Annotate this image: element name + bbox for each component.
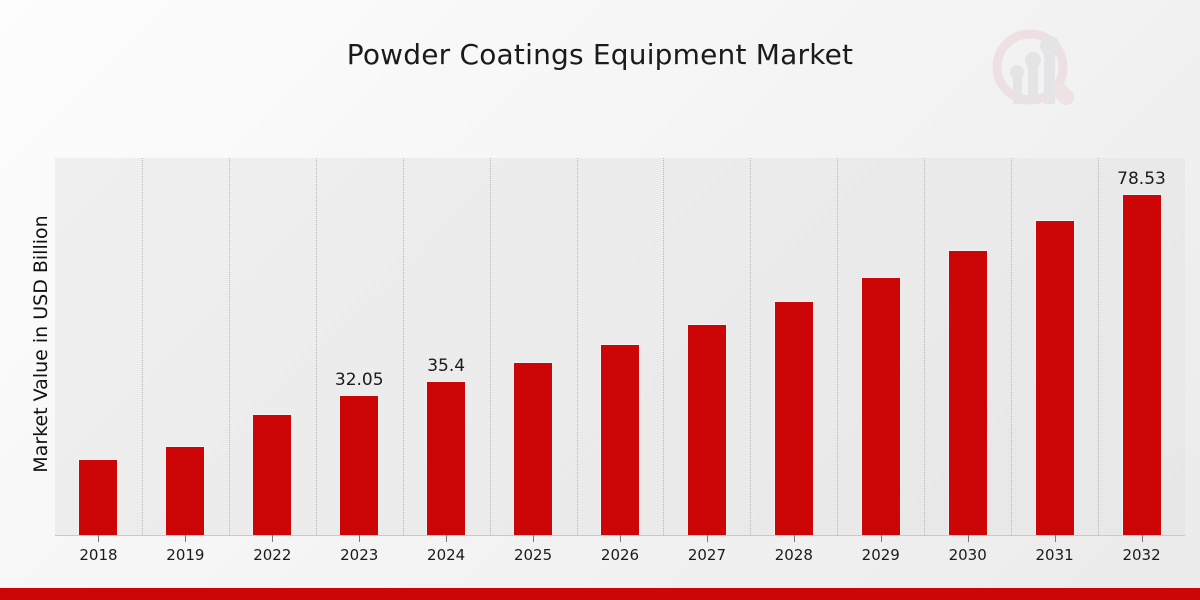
bar-2029[interactable] <box>861 277 901 535</box>
bar-group[interactable] <box>1011 158 1098 535</box>
bar-2024[interactable] <box>426 381 466 535</box>
bar-group[interactable] <box>924 158 1011 535</box>
bar-large-icon <box>1044 50 1055 104</box>
bar-2019[interactable] <box>165 446 205 535</box>
x-tick-mark <box>98 535 99 542</box>
x-tick-mark <box>533 535 534 542</box>
x-tick-label-2032: 2032 <box>1122 546 1160 564</box>
bar-2023[interactable] <box>339 395 379 535</box>
x-tick-label-2029: 2029 <box>862 546 900 564</box>
x-tick-mark <box>185 535 186 542</box>
bar-2028[interactable] <box>774 301 814 535</box>
x-tick-mark <box>881 535 882 542</box>
bar-2032[interactable] <box>1122 194 1162 535</box>
bar-series: 32.0535.478.53 <box>55 158 1185 535</box>
x-tick-mark <box>446 535 447 542</box>
bar-group[interactable]: 78.53 <box>1098 158 1185 535</box>
x-tick-label-2030: 2030 <box>949 546 987 564</box>
x-tick-label-2025: 2025 <box>514 546 552 564</box>
x-tick-mark <box>794 535 795 542</box>
x-tick-mark <box>1055 535 1056 542</box>
bar-group[interactable] <box>663 158 750 535</box>
dot-medium-icon <box>1025 52 1041 68</box>
x-tick-mark <box>1142 535 1143 542</box>
bar-small-icon <box>1013 76 1022 104</box>
x-tick-mark <box>620 535 621 542</box>
bar-medium-icon <box>1028 64 1038 104</box>
bar-2030[interactable] <box>948 250 988 535</box>
bar-value-label-2023: 32.05 <box>335 370 384 390</box>
x-tick-label-2028: 2028 <box>775 546 813 564</box>
x-tick-mark <box>968 535 969 542</box>
chart-figure: Powder Coatings Equipment Market Market … <box>0 0 1200 600</box>
bar-2026[interactable] <box>600 344 640 535</box>
bar-group[interactable] <box>577 158 664 535</box>
bar-2022[interactable] <box>252 414 292 535</box>
bar-value-label-2024: 35.4 <box>427 356 465 376</box>
bar-group[interactable] <box>229 158 316 535</box>
x-axis: 2018201920222023202420252026202720282029… <box>55 535 1185 575</box>
dot-large-icon <box>1040 36 1060 56</box>
bar-2025[interactable] <box>513 362 553 535</box>
x-tick-mark <box>707 535 708 542</box>
bar-value-label-2032: 78.53 <box>1117 169 1166 189</box>
x-tick-label-2024: 2024 <box>427 546 465 564</box>
market-research-logo-watermark <box>985 22 1085 122</box>
x-tick-mark <box>359 535 360 542</box>
bar-group[interactable] <box>750 158 837 535</box>
x-tick-label-2026: 2026 <box>601 546 639 564</box>
x-tick-mark <box>272 535 273 542</box>
footer-accent-bar <box>0 588 1200 600</box>
bar-2031[interactable] <box>1035 220 1075 535</box>
x-tick-label-2018: 2018 <box>79 546 117 564</box>
bar-group[interactable]: 32.05 <box>316 158 403 535</box>
y-axis-title: Market Value in USD Billion <box>30 154 52 534</box>
bar-group[interactable] <box>837 158 924 535</box>
x-tick-label-2022: 2022 <box>253 546 291 564</box>
plot-area: 32.0535.478.53 <box>55 158 1185 536</box>
bar-group[interactable] <box>55 158 142 535</box>
x-tick-label-2019: 2019 <box>166 546 204 564</box>
x-tick-label-2031: 2031 <box>1036 546 1074 564</box>
bar-group[interactable] <box>142 158 229 535</box>
bar-2018[interactable] <box>78 459 118 535</box>
x-tick-label-2023: 2023 <box>340 546 378 564</box>
bar-2027[interactable] <box>687 324 727 535</box>
bar-group[interactable]: 35.4 <box>403 158 490 535</box>
dot-small-icon <box>1010 65 1024 79</box>
bar-group[interactable] <box>490 158 577 535</box>
x-tick-label-2027: 2027 <box>688 546 726 564</box>
